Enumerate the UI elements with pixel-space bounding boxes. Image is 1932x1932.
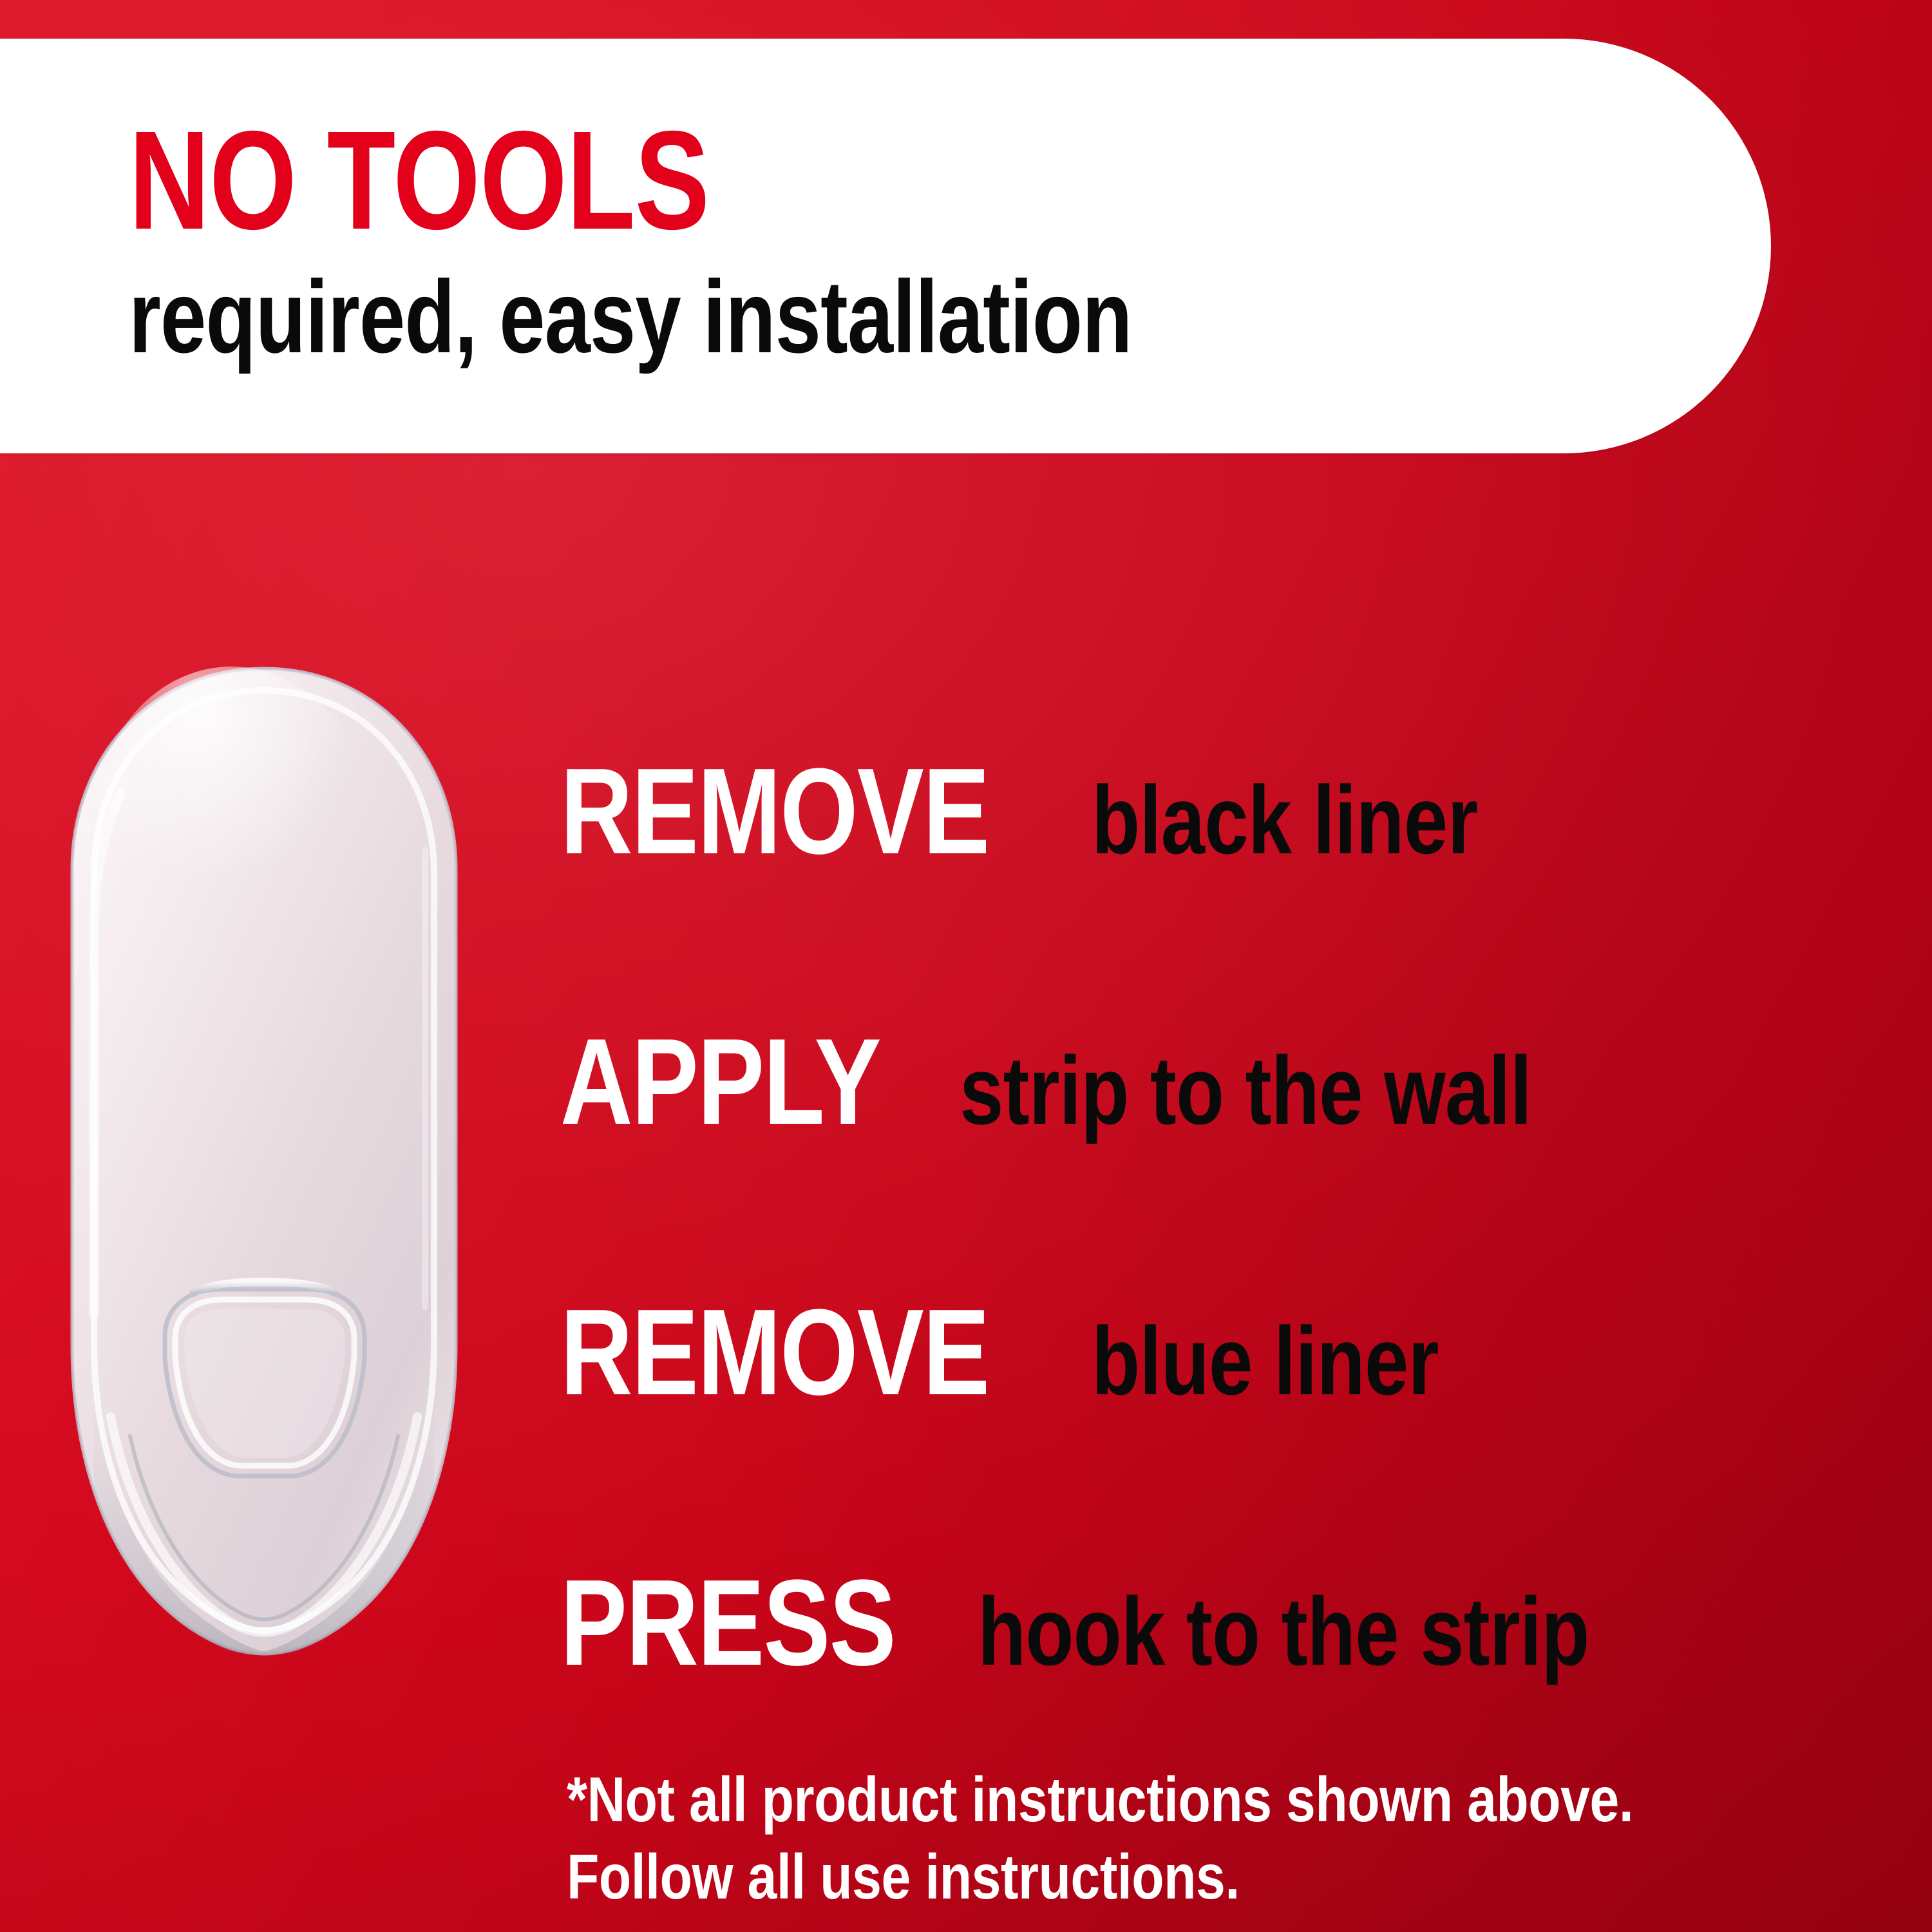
step-action-label: REMOVE — [560, 750, 989, 873]
clear-adhesive-wall-hook-image — [39, 657, 489, 1674]
step-detail-label: blue liner — [1092, 1312, 1439, 1409]
step-action-label: REMOVE — [560, 1291, 989, 1414]
step-action-label: PRESS — [560, 1562, 895, 1684]
step-action-label: APPLY — [560, 1021, 880, 1143]
instruction-step: REMOVE blue liner — [560, 1220, 1874, 1491]
step-detail-label: hook to the strip — [978, 1583, 1589, 1680]
instruction-step: APPLY strip to the wall — [560, 950, 1874, 1220]
footnote-line-1: *Not all product instructions shown abov… — [567, 1761, 1649, 1839]
instruction-steps-list: REMOVE black liner APPLY strip to the wa… — [560, 679, 1874, 1761]
footnote-line-2: Follow all use instructions. — [567, 1839, 1649, 1916]
page-subtitle: required, easy installation — [129, 265, 1132, 368]
instruction-step: REMOVE black liner — [560, 679, 1874, 950]
step-detail-label: strip to the wall — [960, 1042, 1531, 1139]
page-title: NO TOOLS — [129, 111, 709, 251]
instruction-step: PRESS hook to the strip — [560, 1491, 1874, 1761]
header-banner: NO TOOLS required, easy installation — [0, 39, 1771, 453]
header-banner-content: NO TOOLS required, easy installation — [129, 39, 1610, 453]
footnote-disclaimer: *Not all product instructions shown abov… — [567, 1761, 1855, 1915]
product-marketing-poster: NO TOOLS required, easy installation — [0, 0, 1932, 1932]
step-detail-label: black liner — [1092, 772, 1477, 868]
hook-body — [72, 667, 456, 1655]
